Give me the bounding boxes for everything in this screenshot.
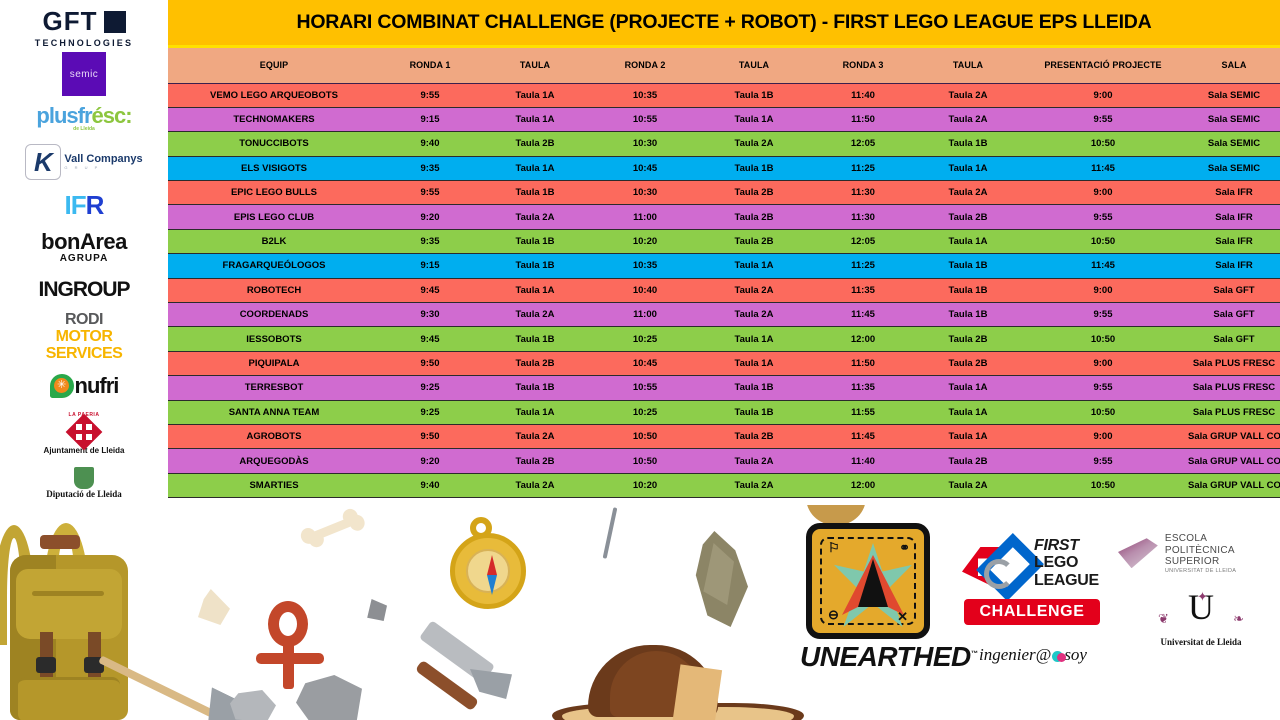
cell-taula3: Taula 1A bbox=[918, 424, 1018, 448]
ingenierosoy-dot-icon bbox=[1052, 651, 1063, 662]
cell-ronda1: 9:20 bbox=[380, 449, 480, 473]
cell-taula1: Taula 1B bbox=[480, 376, 590, 400]
cell-ronda1: 9:50 bbox=[380, 424, 480, 448]
cell-ronda2: 10:35 bbox=[590, 83, 700, 107]
cell-taula3: Taula 2A bbox=[918, 473, 1018, 497]
unearthed-logo: ⚐ ⚭ ⊖ ✕ UNEARTHED™ bbox=[800, 523, 936, 683]
cell-taula2: Taula 2B bbox=[700, 229, 808, 253]
cell-sala: Sala SEMIC bbox=[1188, 83, 1280, 107]
cell-ronda1: 9:25 bbox=[380, 400, 480, 424]
plusfresc-part1: plusfr bbox=[36, 103, 91, 128]
cell-equip: ELS VISIGOTS bbox=[168, 156, 380, 180]
table-row: VEMO LEGO ARQUEOBOTS9:55Taula 1A10:35Tau… bbox=[168, 83, 1280, 107]
cell-taula2: Taula 2B bbox=[700, 205, 808, 229]
vall-letter: K bbox=[34, 149, 53, 175]
cell-taula1: Taula 1A bbox=[480, 107, 590, 131]
sponsor-logo-gft: GFT TECHNOLOGIES bbox=[0, 4, 168, 50]
poster-root: GFT TECHNOLOGIES semic plusfrésc: de Lle… bbox=[0, 0, 1280, 720]
eps-mark-icon bbox=[1118, 538, 1158, 568]
cell-ronda1: 9:15 bbox=[380, 107, 480, 131]
table-row: EPIS LEGO CLUB9:20Taula 2A11:00Taula 2B1… bbox=[168, 205, 1280, 229]
cell-ronda2: 10:25 bbox=[590, 400, 700, 424]
cell-ronda2: 10:40 bbox=[590, 278, 700, 302]
cell-ronda1: 9:30 bbox=[380, 303, 480, 327]
cell-taula2: Taula 1B bbox=[700, 83, 808, 107]
cell-equip: PIQUIPALA bbox=[168, 351, 380, 375]
cell-sala: Sala IFR bbox=[1188, 181, 1280, 205]
flag-icon: ⚐ bbox=[828, 541, 840, 554]
cell-ronda3: 12:05 bbox=[808, 229, 918, 253]
cell-ronda1: 9:45 bbox=[380, 327, 480, 351]
cell-taula3: Taula 1B bbox=[918, 132, 1018, 156]
cell-taula3: Taula 2B bbox=[918, 351, 1018, 375]
cell-ronda3: 11:30 bbox=[808, 205, 918, 229]
eps-logo: ESCOLA POLITÈCNICA SUPERIOR UNIVERSITAT … bbox=[1118, 533, 1280, 574]
cell-sala: Sala SEMIC bbox=[1188, 132, 1280, 156]
pin-needle-icon bbox=[603, 507, 618, 559]
eps-line2: POLITÈCNICA SUPERIOR bbox=[1165, 545, 1280, 568]
cell-ronda3: 12:05 bbox=[808, 132, 918, 156]
cell-ronda1: 9:50 bbox=[380, 351, 480, 375]
sponsor-logo-ajuntament: LA PAERIA Ajuntament de Lleida bbox=[0, 407, 168, 461]
cell-ronda3: 11:40 bbox=[808, 449, 918, 473]
hammer-icon bbox=[418, 635, 538, 720]
cell-ronda2: 10:30 bbox=[590, 132, 700, 156]
cell-presentacio: 11:45 bbox=[1018, 156, 1188, 180]
gft-square-icon bbox=[104, 11, 126, 33]
ifr-wordmark: IFR bbox=[65, 192, 104, 218]
cell-equip: COORDENADS bbox=[168, 303, 380, 327]
cell-equip: TECHNOMAKERS bbox=[168, 107, 380, 131]
cell-equip: ROBOTECH bbox=[168, 278, 380, 302]
cell-equip: TONUCCIBOTS bbox=[168, 132, 380, 156]
ifr-part1: IF bbox=[65, 190, 86, 220]
unearthed-badge-icon: ⚐ ⚭ ⊖ ✕ bbox=[806, 523, 930, 639]
bone-icon bbox=[299, 508, 364, 550]
cell-ronda2: 10:25 bbox=[590, 327, 700, 351]
cell-equip: FRAGARQUEÓLOGOS bbox=[168, 254, 380, 278]
nufri-wordmark: nufri bbox=[75, 373, 119, 399]
sponsor-logo-vall-companys: K Vall Companys G R U P bbox=[0, 139, 168, 185]
cell-taula2: Taula 1B bbox=[700, 156, 808, 180]
backpack-icon bbox=[0, 517, 142, 717]
column-header-equip: EQUIP bbox=[168, 48, 380, 83]
cell-taula1: Taula 2A bbox=[480, 473, 590, 497]
cell-sala: Sala IFR bbox=[1188, 205, 1280, 229]
vall-text: Vall Companys G R U P bbox=[64, 154, 142, 170]
cell-equip: TERRESBOT bbox=[168, 376, 380, 400]
cell-taula1: Taula 1A bbox=[480, 83, 590, 107]
cell-ronda3: 12:00 bbox=[808, 473, 918, 497]
cell-sala: Sala IFR bbox=[1188, 254, 1280, 278]
cell-taula3: Taula 1A bbox=[918, 156, 1018, 180]
rodi-line3: SERVICES bbox=[46, 346, 123, 363]
bonarea-wordmark: bonArea bbox=[41, 231, 127, 253]
cell-presentacio: 9:00 bbox=[1018, 181, 1188, 205]
cell-taula1: Taula 1A bbox=[480, 278, 590, 302]
compass-icon bbox=[448, 517, 528, 611]
nufri-mark: ✳ nufri bbox=[50, 373, 119, 399]
cell-ronda3: 11:45 bbox=[808, 303, 918, 327]
column-header-sala: SALA bbox=[1188, 48, 1280, 83]
table-row: FRAGARQUEÓLOGOS9:15Taula 1B10:35Taula 1A… bbox=[168, 254, 1280, 278]
column-header-ronda3: RONDA 3 bbox=[808, 48, 918, 83]
cell-sala: Sala GFT bbox=[1188, 327, 1280, 351]
cell-equip: IESSOBOTS bbox=[168, 327, 380, 351]
sponsor-logo-rodi: RODI MOTOR SERVICES bbox=[0, 310, 168, 364]
vall-mark: K Vall Companys G R U P bbox=[25, 144, 142, 180]
semic-mark: semic bbox=[62, 52, 106, 96]
udl-ornament-left-icon: ❦ bbox=[1158, 611, 1169, 627]
explorer-hat-icon bbox=[548, 645, 818, 720]
cell-taula3: Taula 2B bbox=[918, 327, 1018, 351]
cell-taula2: Taula 1B bbox=[700, 376, 808, 400]
cell-taula2: Taula 1A bbox=[700, 107, 808, 131]
cell-taula1: Taula 1B bbox=[480, 181, 590, 205]
eps-line1: ESCOLA bbox=[1165, 533, 1280, 545]
cell-taula2: Taula 1A bbox=[700, 351, 808, 375]
sponsor-logo-plusfresc: plusfrésc: de Lleida bbox=[0, 98, 168, 138]
cell-ronda3: 11:55 bbox=[808, 400, 918, 424]
cell-equip: EPIS LEGO CLUB bbox=[168, 205, 380, 229]
cell-equip: SMARTIES bbox=[168, 473, 380, 497]
cell-taula3: Taula 1B bbox=[918, 303, 1018, 327]
fll-mark-icon bbox=[962, 541, 1026, 597]
cell-taula1: Taula 2B bbox=[480, 351, 590, 375]
table-header: EQUIP RONDA 1 TAULA RONDA 2 TAULA RONDA … bbox=[168, 48, 1280, 83]
cell-presentacio: 10:50 bbox=[1018, 327, 1188, 351]
table-row: TECHNOMAKERS9:15Taula 1A10:55Taula 1A11:… bbox=[168, 107, 1280, 131]
eps-wordmark: ESCOLA POLITÈCNICA SUPERIOR UNIVERSITAT … bbox=[1165, 533, 1280, 574]
cross-icon: ✕ bbox=[897, 610, 908, 623]
cell-ronda2: 10:20 bbox=[590, 473, 700, 497]
column-header-presentacio: PRESENTACIÓ PROJECTE bbox=[1018, 48, 1188, 83]
fll-challenge-banner: CHALLENGE bbox=[964, 599, 1100, 625]
rodi-line1: RODI bbox=[65, 312, 103, 329]
cell-equip: ARQUEGODÀS bbox=[168, 449, 380, 473]
column-header-ronda2: RONDA 2 bbox=[590, 48, 700, 83]
table-row: AGROBOTS9:50Taula 2A10:50Taula 2B11:45Ta… bbox=[168, 424, 1280, 448]
vall-name: Vall Companys bbox=[64, 154, 142, 165]
cell-ronda3: 11:30 bbox=[808, 181, 918, 205]
cell-taula2: Taula 1A bbox=[700, 254, 808, 278]
diputacio-crest-icon bbox=[74, 467, 94, 489]
cell-taula1: Taula 1B bbox=[480, 327, 590, 351]
cell-presentacio: 9:55 bbox=[1018, 303, 1188, 327]
vall-box-icon: K bbox=[25, 144, 61, 180]
cell-taula1: Taula 1A bbox=[480, 400, 590, 424]
cell-taula3: Taula 2B bbox=[918, 449, 1018, 473]
cell-taula1: Taula 1A bbox=[480, 156, 590, 180]
page-title: HORARI COMBINAT CHALLENGE (PROJECTE + RO… bbox=[296, 11, 1151, 34]
udl-ornament-top-icon: ✦ bbox=[1197, 589, 1208, 605]
cell-presentacio: 10:50 bbox=[1018, 400, 1188, 424]
sponsor-logo-bonarea: bonArea AGRUPA bbox=[0, 226, 168, 270]
unearthed-word-text: UNEARTHED bbox=[800, 641, 971, 672]
cell-ronda3: 11:35 bbox=[808, 376, 918, 400]
gft-mark: GFT bbox=[43, 6, 126, 37]
cell-taula2: Taula 2A bbox=[700, 132, 808, 156]
column-header-taula3: TAULA bbox=[918, 48, 1018, 83]
main-panel: HORARI COMBINAT CHALLENGE (PROJECTE + RO… bbox=[168, 0, 1280, 505]
cell-presentacio: 10:50 bbox=[1018, 132, 1188, 156]
cell-taula3: Taula 2A bbox=[918, 83, 1018, 107]
ingenierosoy-pre: ingenier@ bbox=[979, 645, 1051, 664]
plusfresc-part2: ésc: bbox=[92, 103, 132, 128]
cell-sala: Sala GFT bbox=[1188, 278, 1280, 302]
cell-taula2: Taula 2A bbox=[700, 303, 808, 327]
table-body: VEMO LEGO ARQUEOBOTS9:55Taula 1A10:35Tau… bbox=[168, 83, 1280, 498]
eps-line3: UNIVERSITAT DE LLEIDA bbox=[1165, 568, 1280, 574]
cell-sala: Sala GRUP VALL COMPANYS bbox=[1188, 449, 1280, 473]
table-row: ELS VISIGOTS9:35Taula 1A10:45Taula 1B11:… bbox=[168, 156, 1280, 180]
nufri-flower-icon: ✳ bbox=[54, 378, 69, 393]
cell-presentacio: 9:55 bbox=[1018, 449, 1188, 473]
binoculars-icon: ⚭ bbox=[899, 541, 910, 554]
cell-sala: Sala GRUP VALL COMPANYS bbox=[1188, 424, 1280, 448]
ifr-part2: R bbox=[86, 190, 104, 220]
sponsor-logo-ingroup: INGROUP bbox=[0, 270, 168, 310]
cell-taula3: Taula 2A bbox=[918, 181, 1018, 205]
bonarea-subtitle: AGRUPA bbox=[60, 253, 109, 264]
cell-presentacio: 9:00 bbox=[1018, 351, 1188, 375]
cell-taula2: Taula 2B bbox=[700, 181, 808, 205]
ingenierosoy-logo: ingenier@soy bbox=[958, 645, 1108, 665]
cell-sala: Sala PLUS FRESC bbox=[1188, 400, 1280, 424]
schedule-table: EQUIP RONDA 1 TAULA RONDA 2 TAULA RONDA … bbox=[168, 48, 1280, 498]
cell-ronda1: 9:55 bbox=[380, 83, 480, 107]
ingenierosoy-post: soy bbox=[1064, 645, 1087, 664]
cell-ronda1: 9:35 bbox=[380, 229, 480, 253]
table-header-row: EQUIP RONDA 1 TAULA RONDA 2 TAULA RONDA … bbox=[168, 48, 1280, 83]
cell-ronda2: 10:45 bbox=[590, 156, 700, 180]
cell-sala: Sala PLUS FRESC bbox=[1188, 376, 1280, 400]
cell-presentacio: 9:55 bbox=[1018, 205, 1188, 229]
table-row: TERRESBOT9:25Taula 1B10:55Taula 1B11:35T… bbox=[168, 376, 1280, 400]
cell-taula2: Taula 1B bbox=[700, 400, 808, 424]
table-row: PIQUIPALA9:50Taula 2B10:45Taula 1A11:50T… bbox=[168, 351, 1280, 375]
cell-ronda3: 12:00 bbox=[808, 327, 918, 351]
cell-presentacio: 9:00 bbox=[1018, 424, 1188, 448]
fll-line1: FIRST bbox=[1034, 537, 1099, 554]
plusfresc-subtitle: de Lleida bbox=[73, 126, 95, 132]
table-row: SMARTIES9:40Taula 2A10:20Taula 2A12:00Ta… bbox=[168, 473, 1280, 497]
ankh-icon bbox=[252, 601, 332, 687]
cell-presentacio: 9:00 bbox=[1018, 83, 1188, 107]
cell-presentacio: 9:55 bbox=[1018, 107, 1188, 131]
cell-ronda1: 9:25 bbox=[380, 376, 480, 400]
sponsor-logo-ifr: IFR bbox=[0, 185, 168, 225]
cell-ronda1: 9:55 bbox=[380, 181, 480, 205]
cell-taula3: Taula 2B bbox=[918, 205, 1018, 229]
sponsor-logo-nufri: ✳ nufri bbox=[0, 364, 168, 406]
unearthed-wordmark: UNEARTHED™ bbox=[800, 641, 936, 673]
plusfresc-wordmark: plusfrésc: bbox=[36, 105, 131, 127]
cell-equip: B2LK bbox=[168, 229, 380, 253]
cell-taula2: Taula 2A bbox=[700, 278, 808, 302]
cell-ronda3: 11:40 bbox=[808, 83, 918, 107]
ingroup-wordmark: INGROUP bbox=[38, 278, 129, 302]
cell-ronda2: 10:20 bbox=[590, 229, 700, 253]
cell-ronda3: 11:25 bbox=[808, 156, 918, 180]
cell-taula2: Taula 2A bbox=[700, 473, 808, 497]
table-row: IESSOBOTS9:45Taula 1B10:25Taula 1A12:00T… bbox=[168, 327, 1280, 351]
cell-ronda1: 9:45 bbox=[380, 278, 480, 302]
poster-title-bar: HORARI COMBINAT CHALLENGE (PROJECTE + RO… bbox=[168, 0, 1280, 48]
stone-artifact-icon bbox=[690, 531, 748, 627]
cell-sala: Sala GFT bbox=[1188, 303, 1280, 327]
cell-sala: Sala PLUS FRESC bbox=[1188, 351, 1280, 375]
cell-taula1: Taula 2B bbox=[480, 132, 590, 156]
first-lego-league-logo: FIRST LEGO LEAGUE CHALLENGE bbox=[962, 537, 1102, 637]
cell-ronda2: 10:55 bbox=[590, 107, 700, 131]
cell-equip: VEMO LEGO ARQUEOBOTS bbox=[168, 83, 380, 107]
cell-ronda2: 10:45 bbox=[590, 351, 700, 375]
paeria-shield-icon bbox=[66, 414, 103, 451]
cell-taula2: Taula 1A bbox=[700, 327, 808, 351]
cell-sala: Sala IFR bbox=[1188, 229, 1280, 253]
cell-ronda1: 9:40 bbox=[380, 473, 480, 497]
column-header-taula2: TAULA bbox=[700, 48, 808, 83]
column-header-taula1: TAULA bbox=[480, 48, 590, 83]
fll-challenge-label: CHALLENGE bbox=[980, 603, 1085, 621]
cell-ronda2: 10:50 bbox=[590, 449, 700, 473]
cell-taula2: Taula 2A bbox=[700, 449, 808, 473]
cell-ronda2: 11:00 bbox=[590, 303, 700, 327]
cell-taula1: Taula 2B bbox=[480, 449, 590, 473]
cell-taula3: Taula 1B bbox=[918, 278, 1018, 302]
cell-sala: Sala SEMIC bbox=[1188, 107, 1280, 131]
cell-equip: AGROBOTS bbox=[168, 424, 380, 448]
sponsor-sidebar: GFT TECHNOLOGIES semic plusfrésc: de Lle… bbox=[0, 0, 168, 505]
table-row: COORDENADS9:30Taula 2A11:00Taula 2A11:45… bbox=[168, 303, 1280, 327]
cell-presentacio: 11:45 bbox=[1018, 254, 1188, 278]
cell-ronda1: 9:35 bbox=[380, 156, 480, 180]
cell-ronda2: 10:35 bbox=[590, 254, 700, 278]
table-row: ROBOTECH9:45Taula 1A10:40Taula 2A11:35Ta… bbox=[168, 278, 1280, 302]
semic-wordmark: semic bbox=[70, 69, 99, 80]
table-row: B2LK9:35Taula 1B10:20Taula 2B12:05Taula … bbox=[168, 229, 1280, 253]
gft-subtitle: TECHNOLOGIES bbox=[35, 38, 133, 48]
sponsor-logo-diputacio: Diputació de Lleida bbox=[0, 461, 168, 505]
udl-name: Universitat de Lleida bbox=[1148, 637, 1254, 647]
cell-presentacio: 10:50 bbox=[1018, 473, 1188, 497]
cell-taula3: Taula 1A bbox=[918, 229, 1018, 253]
cell-ronda3: 11:50 bbox=[808, 351, 918, 375]
cell-sala: Sala SEMIC bbox=[1188, 156, 1280, 180]
fll-line3: LEAGUE bbox=[1034, 572, 1099, 589]
cell-sala: Sala GRUP VALL COMPANYS bbox=[1188, 473, 1280, 497]
diputacio-name: Diputació de Lleida bbox=[46, 489, 122, 499]
cell-ronda2: 11:00 bbox=[590, 205, 700, 229]
cell-taula2: Taula 2B bbox=[700, 424, 808, 448]
sponsor-logo-semic: semic bbox=[0, 50, 168, 98]
vall-subtitle: G R U P bbox=[64, 165, 142, 170]
cell-taula1: Taula 1B bbox=[480, 254, 590, 278]
cell-equip: SANTA ANNA TEAM bbox=[168, 400, 380, 424]
rock-small-icon bbox=[230, 690, 276, 720]
cell-presentacio: 9:55 bbox=[1018, 376, 1188, 400]
table-row: EPIC LEGO BULLS9:55Taula 1B10:30Taula 2B… bbox=[168, 181, 1280, 205]
pottery-icon bbox=[806, 505, 866, 525]
cell-equip: EPIC LEGO BULLS bbox=[168, 181, 380, 205]
rodi-line2: MOTOR bbox=[56, 329, 113, 346]
small-rock-icon bbox=[365, 599, 387, 621]
cell-taula3: Taula 1A bbox=[918, 400, 1018, 424]
cell-taula1: Taula 2A bbox=[480, 205, 590, 229]
cell-ronda3: 11:45 bbox=[808, 424, 918, 448]
cell-ronda1: 9:40 bbox=[380, 132, 480, 156]
cell-taula1: Taula 2A bbox=[480, 424, 590, 448]
cell-taula3: Taula 2A bbox=[918, 107, 1018, 131]
table-row: SANTA ANNA TEAM9:25Taula 1A10:25Taula 1B… bbox=[168, 400, 1280, 424]
cell-ronda3: 11:25 bbox=[808, 254, 918, 278]
fll-wordmark: FIRST LEGO LEAGUE bbox=[1034, 537, 1099, 589]
cell-taula3: Taula 1A bbox=[918, 376, 1018, 400]
footer-illustration: ⚐ ⚭ ⊖ ✕ UNEARTHED™ FIRST LEGO LEAGUE CHA… bbox=[0, 505, 1280, 720]
cell-ronda3: 11:35 bbox=[808, 278, 918, 302]
cell-ronda2: 10:50 bbox=[590, 424, 700, 448]
cell-taula1: Taula 2A bbox=[480, 303, 590, 327]
cell-taula1: Taula 1B bbox=[480, 229, 590, 253]
cell-ronda1: 9:20 bbox=[380, 205, 480, 229]
cell-presentacio: 10:50 bbox=[1018, 229, 1188, 253]
nufri-fruit-icon: ✳ bbox=[50, 374, 74, 398]
cell-ronda2: 10:30 bbox=[590, 181, 700, 205]
cell-taula3: Taula 1B bbox=[918, 254, 1018, 278]
gft-wordmark: GFT bbox=[43, 6, 98, 37]
table-row: ARQUEGODÀS9:20Taula 2B10:50Taula 2A11:40… bbox=[168, 449, 1280, 473]
magnifier-icon: ⊖ bbox=[828, 608, 839, 621]
udl-ornament-right-icon: ❧ bbox=[1233, 611, 1244, 627]
bone-shard-icon bbox=[198, 589, 230, 625]
cell-ronda1: 9:15 bbox=[380, 254, 480, 278]
cell-ronda3: 11:50 bbox=[808, 107, 918, 131]
udl-logo: ✦ ❦ ❧ U Universitat de Lleida bbox=[1148, 591, 1254, 647]
table-row: TONUCCIBOTS9:40Taula 2B10:30Taula 2A12:0… bbox=[168, 132, 1280, 156]
fll-line2: LEGO bbox=[1034, 554, 1099, 571]
cell-ronda2: 10:55 bbox=[590, 376, 700, 400]
column-header-ronda1: RONDA 1 bbox=[380, 48, 480, 83]
cell-presentacio: 9:00 bbox=[1018, 278, 1188, 302]
